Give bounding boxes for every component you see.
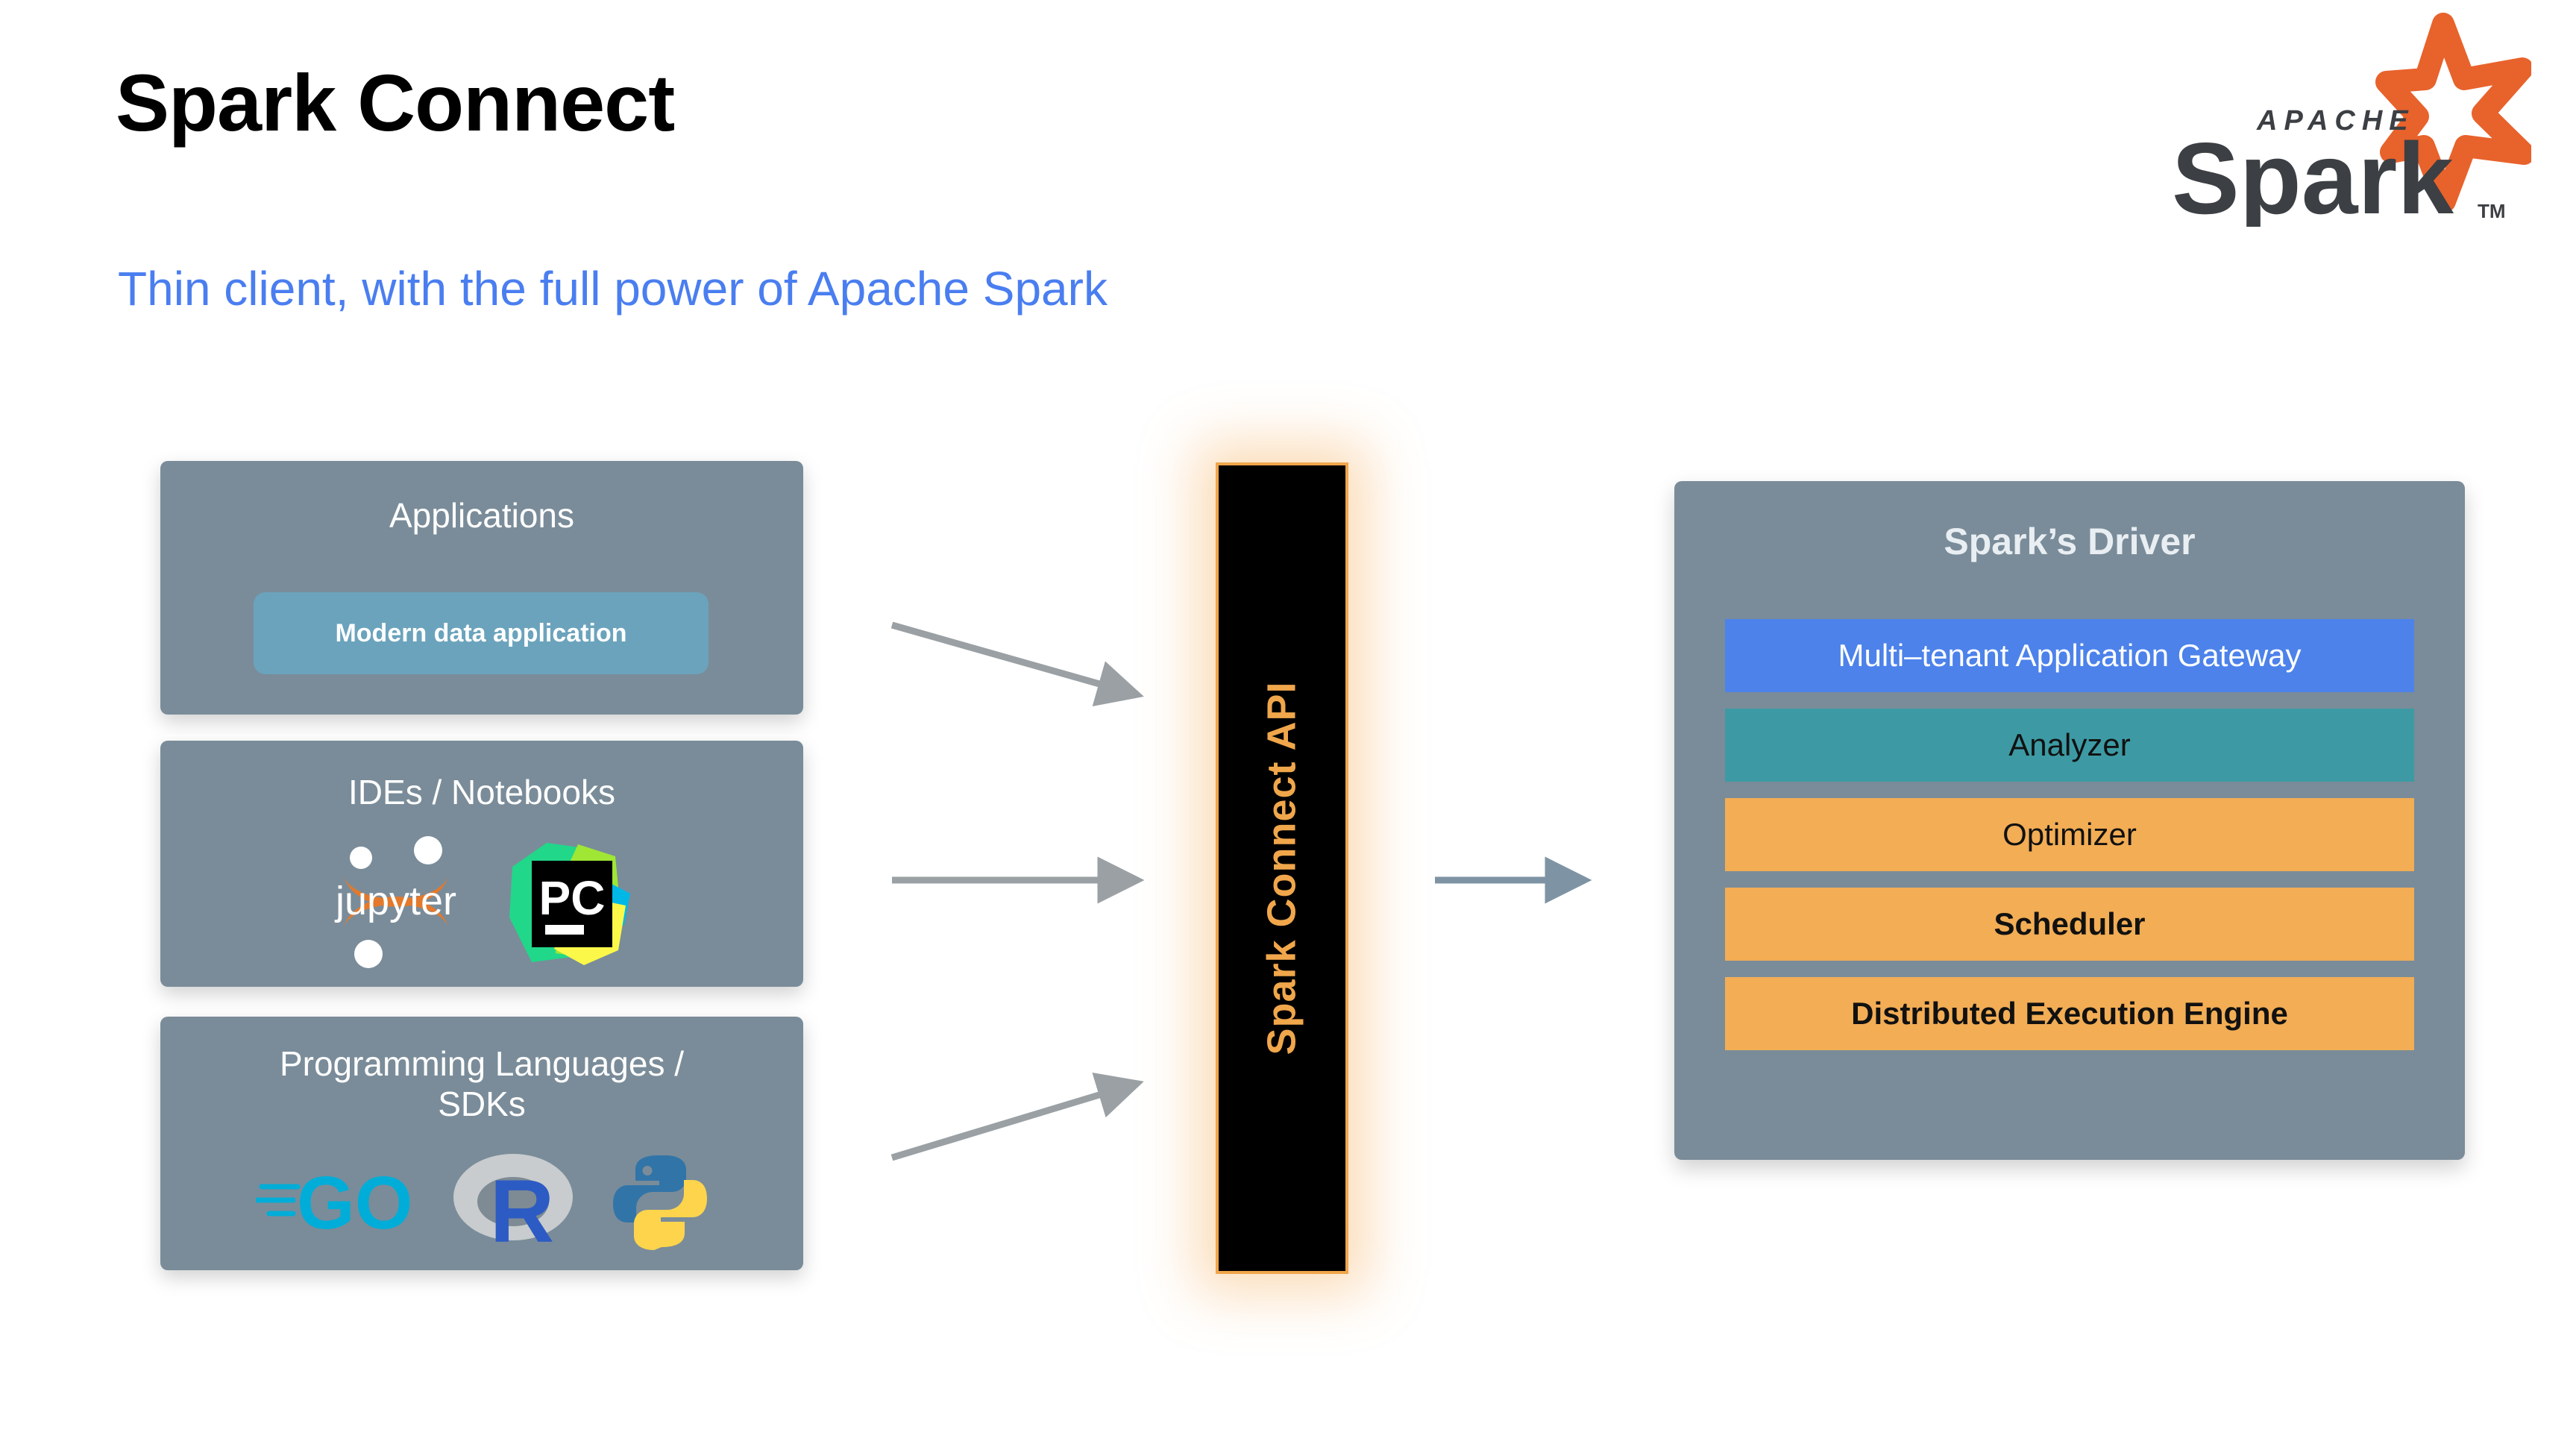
go-wordmark-text: GO [297, 1161, 413, 1245]
logo-wordmark-text: Spark [2172, 122, 2454, 227]
driver-layer-label: Distributed Execution Engine [1851, 996, 2288, 1032]
client-card-applications[interactable]: Applications Modern data application [160, 461, 803, 715]
client-card-ides-notebooks[interactable]: IDEs / Notebooks jupyter PC [160, 741, 803, 987]
logo-trademark-text: TM [2478, 200, 2506, 222]
spark-connect-api-label: Spark Connect API [1259, 681, 1305, 1055]
client-card-title-languages-line2: SDKs [438, 1085, 526, 1123]
driver-layer-scheduler[interactable]: Scheduler [1725, 888, 2414, 961]
python-logo-icon [612, 1151, 709, 1255]
driver-layer-optimizer[interactable]: Optimizer [1725, 798, 2414, 871]
apache-spark-logo: APACHE Spark TM [2143, 10, 2531, 227]
jupyter-wordmark-text: jupyter [333, 879, 456, 923]
client-card-title-languages: Programming Languages / SDKs [160, 1043, 803, 1125]
modern-data-application-chip[interactable]: Modern data application [254, 592, 709, 674]
driver-layer-analyzer[interactable]: Analyzer [1725, 709, 2414, 782]
jupyter-icon: jupyter [324, 831, 469, 976]
r-wordmark-text: R [489, 1161, 554, 1252]
r-logo-icon: R [450, 1151, 577, 1255]
client-card-title-applications: Applications [160, 495, 803, 536]
spark-driver-panel[interactable]: Spark’s Driver Multi–tenant Application … [1674, 481, 2465, 1160]
arrow-languages-to-api [888, 1067, 1171, 1171]
driver-layer-label: Analyzer [2008, 727, 2130, 763]
driver-layer-label: Scheduler [1994, 906, 2145, 942]
language-logo-row: GO R [160, 1143, 803, 1263]
client-card-title-languages-line1: Programming Languages / [280, 1044, 684, 1083]
pycharm-icon: PC [506, 831, 641, 976]
page-subtitle: Thin client, with the full power of Apac… [118, 261, 1108, 316]
arrow-ides-to-api [888, 858, 1171, 903]
arrow-applications-to-api [888, 612, 1171, 716]
driver-layer-distributed-execution-engine[interactable]: Distributed Execution Engine [1725, 977, 2414, 1050]
spark-connect-api-column[interactable]: Spark Connect API [1216, 462, 1348, 1274]
ide-logo-row: jupyter PC [160, 829, 803, 978]
driver-layer-label: Multi–tenant Application Gateway [1838, 638, 2301, 674]
client-card-title-ides: IDEs / Notebooks [160, 772, 803, 812]
driver-layer-label: Optimizer [2002, 817, 2137, 853]
pycharm-wordmark-text: PC [538, 871, 605, 925]
client-card-programming-languages[interactable]: Programming Languages / SDKs GO R [160, 1017, 803, 1270]
driver-layer-multi-tenant-application-gateway[interactable]: Multi–tenant Application Gateway [1725, 619, 2414, 692]
spark-driver-title: Spark’s Driver [1674, 520, 2465, 563]
go-logo-icon: GO [256, 1157, 416, 1250]
page-title: Spark Connect [116, 56, 674, 149]
arrow-api-to-driver [1432, 858, 1611, 903]
driver-layer-list: Multi–tenant Application Gateway Analyze… [1725, 619, 2414, 1050]
